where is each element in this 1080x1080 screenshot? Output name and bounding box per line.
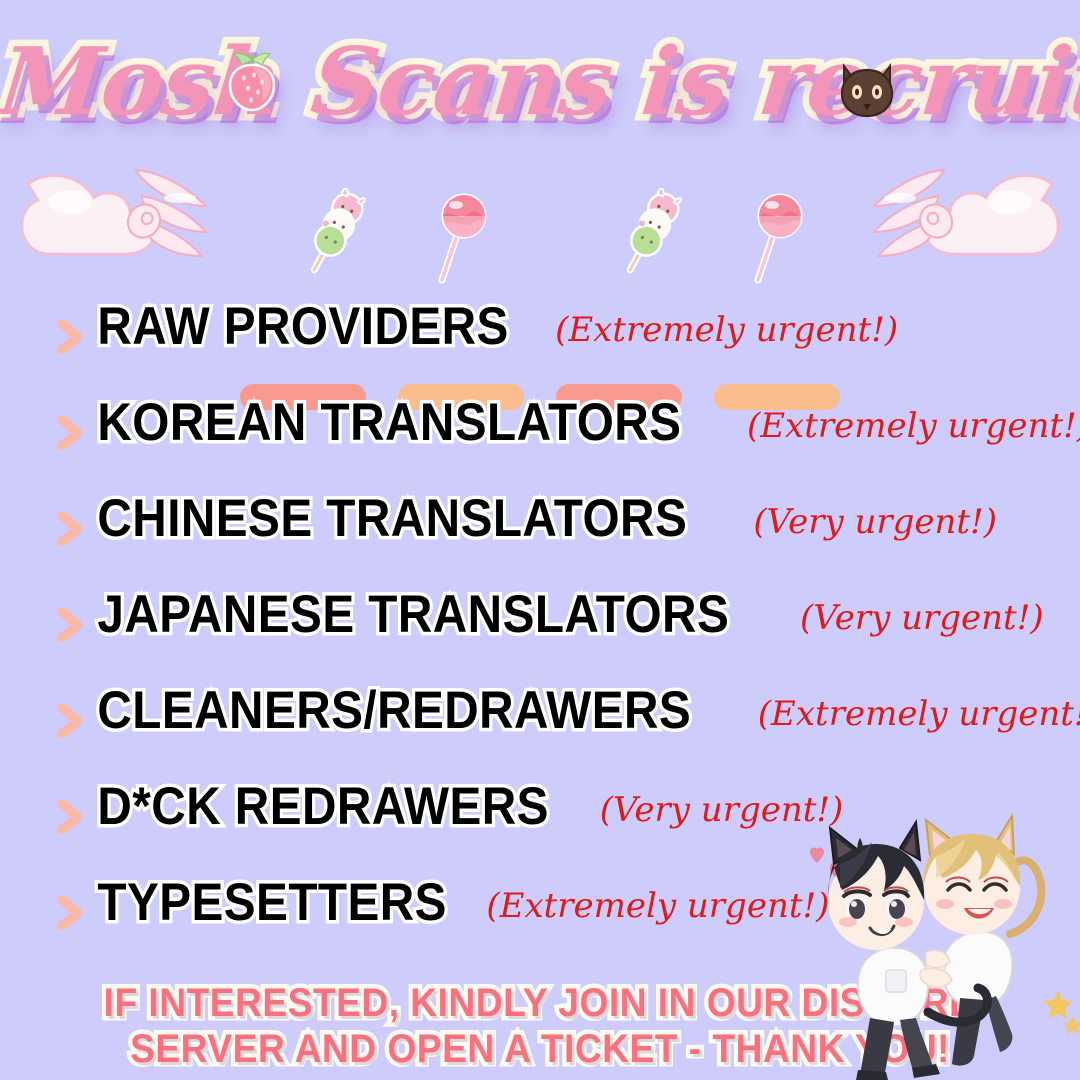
list-item: JAPANESE TRANSLATORS (Very urgent!) xyxy=(0,584,1080,680)
role-urgency-note: (Very urgent!) xyxy=(800,598,1044,638)
role-title: JAPANESE TRANSLATORS xyxy=(56,584,729,646)
chibi-catboys-illustration xyxy=(800,812,1080,1080)
star-icon xyxy=(1043,990,1080,1035)
bear-head-icon xyxy=(836,62,898,120)
poster-header: Mosh Scans is recruiting! xyxy=(0,22,1080,152)
role-title: KOREAN TRANSLATORS xyxy=(56,392,681,454)
role-title: D*CK REDRAWERS xyxy=(56,776,549,838)
blond-catboy xyxy=(910,816,1041,1066)
role-urgency-note: (Extremely urgent!) xyxy=(747,406,1080,446)
list-item: CLEANERS/REDRAWERS (Extremely urgent!) xyxy=(0,680,1080,776)
role-urgency-note: (Extremely urgent!) xyxy=(555,310,898,350)
strawberry-icon xyxy=(226,52,278,112)
winged-cloud-right-icon xyxy=(840,162,1070,282)
recruitment-poster: Mosh Scans is recruiting! xyxy=(0,0,1080,1080)
lollipop-icon xyxy=(420,188,496,284)
role-title: RAW PROVIDERS xyxy=(56,296,509,358)
dango-skewer-icon xyxy=(298,188,372,280)
decorative-divider xyxy=(0,162,1080,290)
list-item: CHINESE TRANSLATORS (Very urgent!) xyxy=(0,488,1080,584)
role-urgency-note: (Extremely urgent!) xyxy=(758,694,1080,734)
list-item: RAW PROVIDERS (Extremely urgent!) xyxy=(0,296,1080,392)
role-title: CHINESE TRANSLATORS xyxy=(56,488,687,550)
lollipop-icon xyxy=(736,188,812,284)
winged-cloud-left-icon xyxy=(10,162,240,282)
dango-skewer-icon xyxy=(614,188,688,280)
role-urgency-note: (Very urgent!) xyxy=(753,502,997,542)
role-urgency-note: (Extremely urgent!) xyxy=(486,886,829,926)
role-title: CLEANERS/REDRAWERS xyxy=(56,680,691,742)
page-title: Mosh Scans is recruiting! xyxy=(0,22,1080,142)
role-title: TYPESETTERS xyxy=(56,872,447,934)
list-item: KOREAN TRANSLATORS (Extremely urgent!) xyxy=(0,392,1080,488)
